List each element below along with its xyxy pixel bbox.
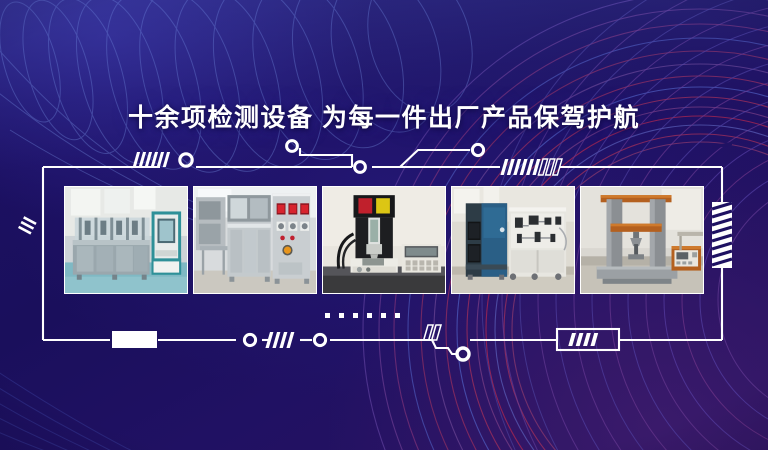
bottom-dot-row	[325, 313, 400, 318]
photo-artwork	[323, 187, 445, 293]
top-right-hash-marks	[500, 159, 540, 175]
circuit-node	[314, 334, 325, 345]
circuit-node	[472, 144, 483, 155]
bottom-right-outlined-block	[557, 329, 619, 350]
bottom-hash-marks	[265, 332, 294, 348]
top-left-hash-marks	[133, 152, 170, 167]
photo-environmental-chamber[interactable]	[451, 186, 575, 294]
circuit-node	[180, 154, 192, 166]
photo-artwork	[581, 187, 703, 293]
left-edge-slash-marks	[18, 216, 37, 234]
equipment-showcase-banner: 十余项检测设备 为每一件出厂产品保驾护航	[0, 0, 768, 450]
photo-universal-testing-machine[interactable]	[580, 186, 704, 294]
circuit-node	[355, 162, 366, 173]
photo-hardness-tester[interactable]	[322, 186, 446, 294]
photo-artwork	[65, 187, 187, 293]
page-title: 十余项检测设备 为每一件出厂产品保驾护航	[0, 98, 768, 134]
bottom-double-bar-glyph	[424, 325, 441, 340]
circuit-node	[244, 334, 255, 345]
circuit-node	[457, 348, 469, 360]
circuit-node	[287, 141, 298, 152]
photo-filling-line[interactable]	[64, 186, 188, 294]
photo-steel-control-cabinet[interactable]	[193, 186, 317, 294]
top-light-sheen	[0, 0, 768, 170]
right-edge-resistor	[712, 142, 732, 268]
equipment-photo-gallery	[64, 186, 704, 294]
bottom-left-filled-block	[112, 331, 157, 348]
top-right-outlined-blocks	[538, 159, 562, 175]
photo-artwork	[452, 187, 574, 293]
photo-artwork	[194, 187, 316, 293]
